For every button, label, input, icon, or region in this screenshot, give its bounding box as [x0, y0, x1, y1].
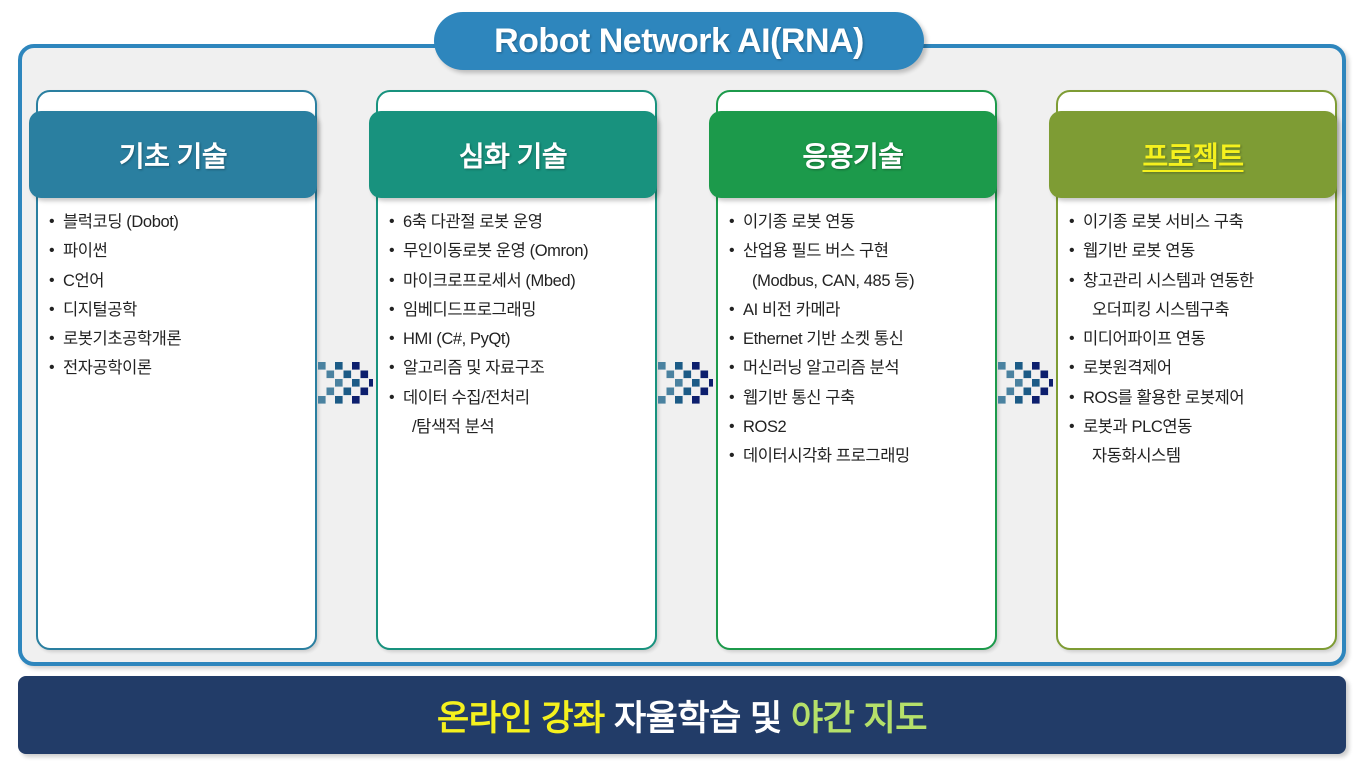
- list-item: 파이썬: [48, 239, 310, 263]
- card-header-applied-tech[interactable]: 응용기술: [709, 111, 997, 198]
- list-item: 이기종 로봇 연동: [728, 210, 990, 234]
- main-title-pill: Robot Network AI(RNA): [434, 12, 924, 70]
- card-header-label-project: 프로젝트: [1142, 135, 1243, 175]
- card-list-applied-tech: 이기종 로봇 연동 산업용 필드 버스 구현 (Modbus, CAN, 485…: [728, 210, 990, 473]
- mosaic-arrow-icon: [997, 350, 1053, 406]
- list-item: HMI (C#, PyQt): [388, 327, 650, 351]
- list-item: ROS2: [728, 415, 990, 439]
- list-item: C언어: [48, 269, 310, 293]
- list-item: 머신러닝 알고리즘 분석: [728, 356, 990, 380]
- card-header-label-basic-tech: 기초 기술: [119, 135, 227, 175]
- list-item: ROS를 활용한 로봇제어: [1068, 386, 1330, 410]
- list-item: 전자공학이론: [48, 356, 310, 380]
- list-item: 로봇기초공학개론: [48, 327, 310, 351]
- rna-curriculum-diagram: Robot Network AI(RNA) 기초 기술 블럭코딩 (Dobot)…: [0, 0, 1364, 763]
- card-header-label-advanced-tech: 심화 기술: [459, 135, 567, 175]
- list-item: 블럭코딩 (Dobot): [48, 210, 310, 234]
- list-item: 미디어파이프 연동: [1068, 327, 1330, 351]
- list-item: 이기종 로봇 서비스 구축: [1068, 210, 1330, 234]
- list-item: 로봇원격제어: [1068, 356, 1330, 380]
- list-item: 알고리즘 및 자료구조: [388, 356, 650, 380]
- card-list-project: 이기종 로봇 서비스 구축 웹기반 로봇 연동 창고관리 시스템과 연동한 오더…: [1068, 210, 1330, 473]
- mosaic-arrow-icon: [317, 350, 373, 406]
- list-item: 웹기반 로봇 연동: [1068, 239, 1330, 263]
- list-item-continuation: 오더피킹 시스템구축: [1068, 298, 1330, 322]
- card-list-basic-tech: 블럭코딩 (Dobot) 파이썬 C언어 디지털공학 로봇기초공학개론 전자공학…: [48, 210, 310, 386]
- bottom-banner: 온라인 강좌 자율학습 및 야간 지도: [18, 676, 1346, 754]
- list-item: 창고관리 시스템과 연동한: [1068, 269, 1330, 293]
- list-item: 임베디드프로그래밍: [388, 298, 650, 322]
- page-title: Robot Network AI(RNA): [494, 22, 864, 61]
- card-list-advanced-tech: 6축 다관절 로봇 운영 무인이동로봇 운영 (Omron) 마이크로프로세서 …: [388, 210, 650, 444]
- list-item: 로봇과 PLC연동: [1068, 415, 1330, 439]
- list-item: 마이크로프로세서 (Mbed): [388, 269, 650, 293]
- banner-segment-night-guidance: 야간 지도: [791, 690, 927, 741]
- list-item-continuation: /탐색적 분석: [388, 415, 650, 439]
- banner-segment-self-study: 자율학습 및: [605, 690, 791, 741]
- mosaic-arrow-icon: [657, 350, 713, 406]
- banner-segment-online-course: 온라인 강좌: [437, 690, 605, 741]
- card-header-basic-tech[interactable]: 기초 기술: [29, 111, 317, 198]
- card-header-advanced-tech[interactable]: 심화 기술: [369, 111, 657, 198]
- list-item: Ethernet 기반 소켓 통신: [728, 327, 990, 351]
- card-header-label-applied-tech: 응용기술: [802, 135, 903, 175]
- list-item: 무인이동로봇 운영 (Omron): [388, 239, 650, 263]
- list-item: AI 비전 카메라: [728, 298, 990, 322]
- list-item: 6축 다관절 로봇 운영: [388, 210, 650, 234]
- list-item: 데이터 수집/전처리: [388, 386, 650, 410]
- list-item: 데이터시각화 프로그래밍: [728, 444, 990, 468]
- list-item: 웹기반 통신 구축: [728, 386, 990, 410]
- list-item: 산업용 필드 버스 구현: [728, 239, 990, 263]
- card-header-project[interactable]: 프로젝트: [1049, 111, 1337, 198]
- list-item-continuation: (Modbus, CAN, 485 등): [728, 269, 990, 293]
- list-item-continuation: 자동화시스템: [1068, 444, 1330, 468]
- list-item: 디지털공학: [48, 298, 310, 322]
